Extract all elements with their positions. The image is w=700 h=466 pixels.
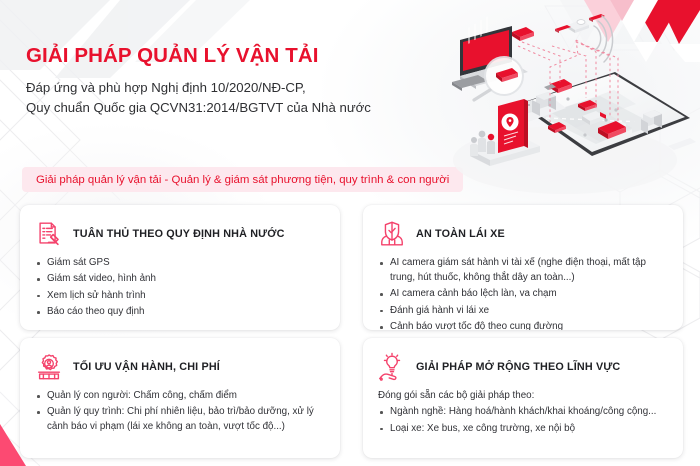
list-item: Quản lý con người: Chấm công, chấm điểm	[36, 389, 326, 404]
hero-subtitle: Đáp ứng và phù hợp Nghị định 10/2020/NĐ-…	[26, 78, 426, 118]
list-item: Báo cáo theo quy định	[36, 305, 326, 320]
list-item: Ngành nghề: Hàng hoá/hành khách/khai kho…	[379, 405, 669, 420]
card-title: AN TOÀN LÁI XE	[416, 228, 505, 241]
satellite-icon	[512, 27, 534, 41]
card-header: TỐI ƯU VẬN HÀNH, CHI PHÍ	[34, 350, 326, 384]
card-header: AN TOÀN LÁI XE	[377, 217, 669, 251]
card-compliance[interactable]: TUÂN THỦ THEO QUY ĐỊNH NHÀ NƯỚC Giám sát…	[20, 205, 340, 330]
card-intro: Đóng gói sẵn các bộ giải pháp theo:	[378, 389, 669, 403]
hero-subtitle-line-1: Đáp ứng và phù hợp Nghị định 10/2020/NĐ-…	[26, 78, 426, 98]
satellite-icon	[555, 14, 605, 33]
card-header: GIẢI PHÁP MỞ RỘNG THEO LĨNH VỰC	[377, 350, 669, 384]
feature-cards-grid: TUÂN THỦ THEO QUY ĐỊNH NHÀ NƯỚC Giám sát…	[20, 205, 680, 458]
list-item: Giám sát video, hình ảnh	[36, 272, 326, 287]
card-driving-safety[interactable]: AN TOÀN LÁI XE AI camera giám sát hành v…	[363, 205, 683, 330]
gear-people-icon	[34, 352, 64, 382]
card-header: TUÂN THỦ THEO QUY ĐỊNH NHÀ NƯỚC	[34, 217, 326, 251]
lightbulb-hand-icon	[377, 352, 407, 382]
list-item: Loại xe: Xe bus, xe công trường, xe nội …	[379, 422, 669, 437]
hero-text-block: GIẢI PHÁP QUẢN LÝ VẬN TẢI Đáp ứng và phù…	[26, 44, 426, 118]
card-list: Ngành nghề: Hàng hoá/hành khách/khai kho…	[379, 405, 669, 436]
document-gavel-icon	[34, 219, 64, 249]
hero-badge: Giải pháp quản lý vận tải - Quản lý & gi…	[22, 167, 463, 192]
list-item: AI camera cảnh báo lệch làn, va chạm	[379, 287, 669, 302]
card-industry-solutions[interactable]: GIẢI PHÁP MỞ RỘNG THEO LĨNH VỰC Đóng gói…	[363, 338, 683, 458]
card-list: Quản lý con người: Chấm công, chấm điểm …	[36, 389, 326, 435]
page-root: GIẢI PHÁP QUẢN LÝ VẬN TẢI Đáp ứng và phù…	[0, 0, 700, 466]
list-item: Đánh giá hành vi lái xe	[379, 304, 669, 319]
isometric-fleet-telematics-illustration	[400, 0, 700, 200]
card-list: Giám sát GPS Giám sát video, hình ảnh Xe…	[36, 256, 326, 320]
card-list: AI camera giám sát hành vi tài xế (nghe …	[379, 256, 669, 330]
list-item: Giám sát GPS	[36, 256, 326, 271]
list-item: Quản lý quy trình: Chi phí nhiên liệu, b…	[36, 405, 326, 435]
card-operations-cost[interactable]: TỐI ƯU VẬN HÀNH, CHI PHÍ Quản lý con ngư…	[20, 338, 340, 458]
list-item: Xem lịch sử hành trình	[36, 289, 326, 304]
hero-badge-label: Giải pháp quản lý vận tải - Quản lý & gi…	[36, 174, 449, 186]
hero-section: GIẢI PHÁP QUẢN LÝ VẬN TẢI Đáp ứng và phù…	[0, 0, 700, 200]
shield-hands-icon	[377, 219, 407, 249]
list-item: Cảnh báo vượt tốc độ theo cung đường	[379, 320, 669, 330]
page-title: GIẢI PHÁP QUẢN LÝ VẬN TẢI	[26, 44, 426, 69]
card-title: TUÂN THỦ THEO QUY ĐỊNH NHÀ NƯỚC	[73, 228, 285, 241]
hero-subtitle-line-2: Quy chuẩn Quốc gia QCVN31:2014/BGTVT của…	[26, 98, 426, 118]
card-title: GIẢI PHÁP MỞ RỘNG THEO LĨNH VỰC	[416, 361, 620, 374]
card-title: TỐI ƯU VẬN HÀNH, CHI PHÍ	[73, 361, 220, 374]
list-item: AI camera giám sát hành vi tài xế (nghe …	[379, 256, 669, 286]
